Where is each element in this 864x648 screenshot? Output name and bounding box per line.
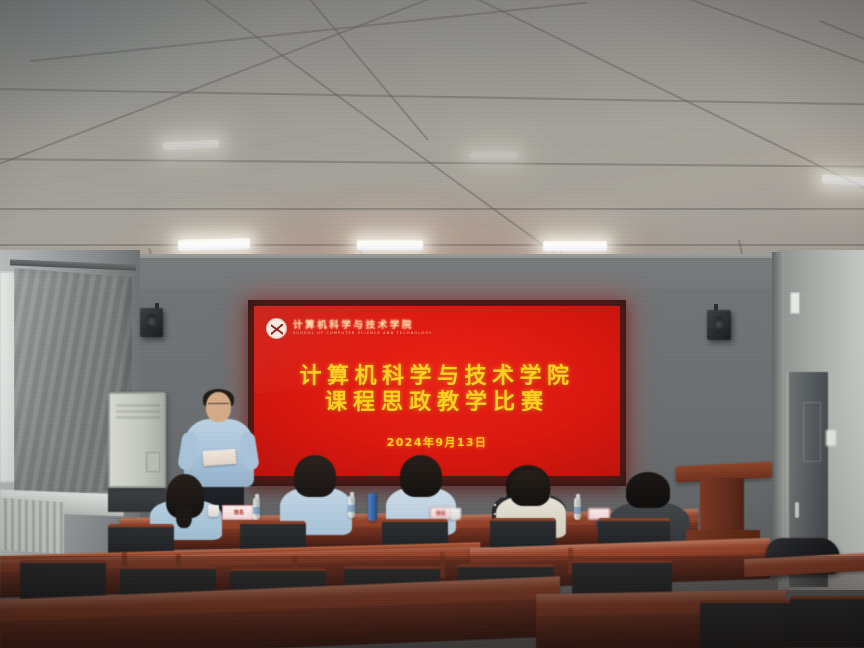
ac-display-panel [146, 452, 160, 472]
ac-vent [116, 410, 160, 413]
attendee-5-hair [510, 470, 550, 506]
screen-logo: 计算机科学与技术学院 SCHOOL OF COMPUTER SCIENCE AN… [266, 318, 432, 339]
conference-room-photo: 计算机科学与技术学院 SCHOOL OF COMPUTER SCIENCE AN… [0, 0, 864, 648]
wall-sign [790, 292, 800, 314]
screen-title-line-2: 课程思政教学比赛 [254, 390, 620, 416]
attendee-1-ponytail [176, 502, 192, 528]
door-handle-icon[interactable] [795, 502, 799, 518]
water-bottle [574, 498, 581, 520]
wall-speaker-right-icon [707, 310, 731, 340]
university-emblem-icon [266, 318, 287, 339]
bottle-label [253, 507, 260, 514]
paper-cup [208, 505, 219, 517]
wall-speaker-left-icon [140, 308, 163, 337]
conference-chair [490, 518, 556, 548]
door-panel [803, 402, 821, 462]
presenter-glasses-icon [208, 403, 229, 409]
name-card: 姓名 [222, 505, 256, 520]
screen-date: 2024年9月13日 [254, 434, 620, 450]
ac-vent [116, 416, 160, 419]
podium-column [700, 478, 744, 532]
led-screen[interactable]: 计算机科学与技术学院 SCHOOL OF COMPUTER SCIENCE AN… [254, 306, 620, 476]
bottle-label [348, 505, 355, 512]
ac-vent [116, 404, 160, 407]
radiator [0, 498, 64, 554]
wall-sign-secondary [826, 430, 836, 446]
conference-chair [108, 524, 174, 554]
name-card-text: 姓名 [234, 509, 244, 516]
water-bottle [348, 496, 355, 518]
wall-corner-edge [772, 252, 784, 582]
foreground-shadow [0, 556, 864, 648]
attendee-3-hair [400, 455, 442, 497]
screen-title-line-1: 计算机科学与技术学院 [254, 364, 620, 390]
attendee-2-hair [294, 455, 336, 497]
attendee-6-hair [626, 472, 670, 508]
bottle-label [574, 507, 581, 514]
logo-institution-cn: 计算机科学与技术学院 [293, 321, 432, 331]
blue-thermos [368, 493, 377, 521]
paper-cup [450, 508, 461, 520]
name-card: 姓名 [430, 507, 452, 519]
name-card-text: 姓名 [436, 510, 446, 517]
screen-title-block: 计算机科学与技术学院 课程思政教学比赛 [254, 364, 620, 415]
presenter-papers [203, 449, 237, 466]
logo-institution-en: SCHOOL OF COMPUTER SCIENCE AND TECHNOLOG… [293, 332, 432, 336]
water-bottle [253, 498, 260, 520]
